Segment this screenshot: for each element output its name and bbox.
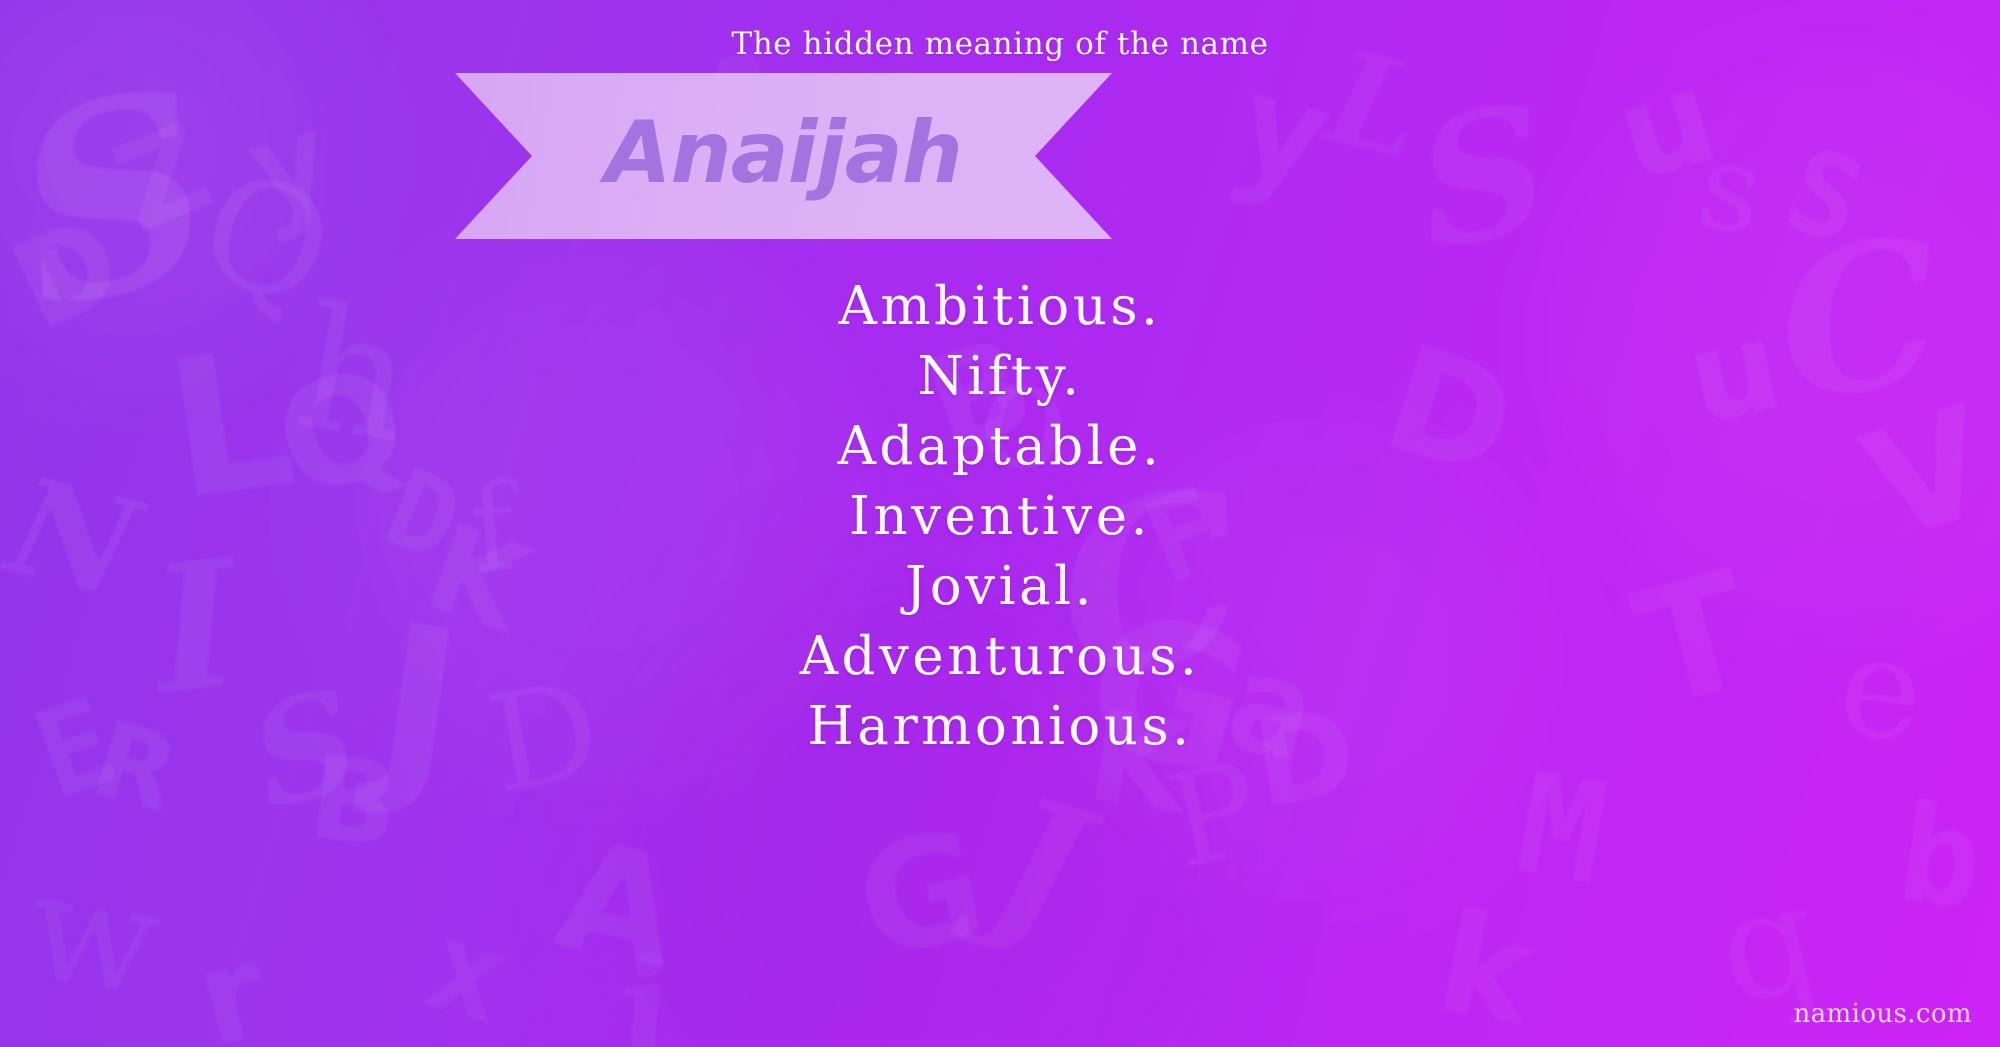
watermark-letter: G: [847, 810, 996, 981]
page-title: The hidden meaning of the name: [0, 26, 2000, 62]
watermark-letter: w: [19, 851, 169, 1019]
watermark-letter: u: [1603, 49, 1730, 200]
watermark-letter: s: [1689, 125, 1772, 255]
watermark-letter: b: [1891, 785, 1990, 930]
trait-item: Inventive.: [0, 482, 2000, 552]
watermark-letter: Z: [101, 108, 227, 252]
name-text: Anaijah: [455, 73, 1112, 239]
name-banner: Anaijah: [455, 73, 1112, 239]
trait-item: Ambitious.: [0, 272, 2000, 342]
name-meaning-card: SQDNLhQDIJERSBDAyKfCGFKPDSyusCSuoBaDJGMT…: [0, 0, 2000, 1047]
trait-item: Nifty.: [0, 342, 2000, 412]
watermark-letter: i: [613, 938, 681, 1047]
trait-item: Harmonious.: [0, 692, 2000, 762]
watermark-letter: M: [1508, 754, 1615, 907]
watermark-letter: J: [978, 772, 1102, 958]
watermark-letter: P: [1156, 742, 1270, 888]
watermark-letter: y: [234, 92, 345, 239]
watermark-letter: x: [413, 902, 522, 1044]
watermark-letter: S: [1407, 81, 1559, 274]
watermark-letter: A: [546, 820, 691, 991]
watermark-letter: k: [1427, 892, 1545, 1047]
watermark-letter: y: [1223, 51, 1345, 214]
watermark-letter: r: [185, 924, 279, 1047]
trait-item: Adventurous.: [0, 622, 2000, 692]
trait-item: Jovial.: [0, 552, 2000, 622]
trait-item: Adaptable.: [0, 412, 2000, 482]
watermark-letter: S: [1772, 132, 1876, 264]
site-watermark: namious.com: [1794, 999, 1973, 1029]
trait-list: Ambitious.Nifty.Adaptable.Inventive.Jovi…: [0, 272, 2000, 762]
